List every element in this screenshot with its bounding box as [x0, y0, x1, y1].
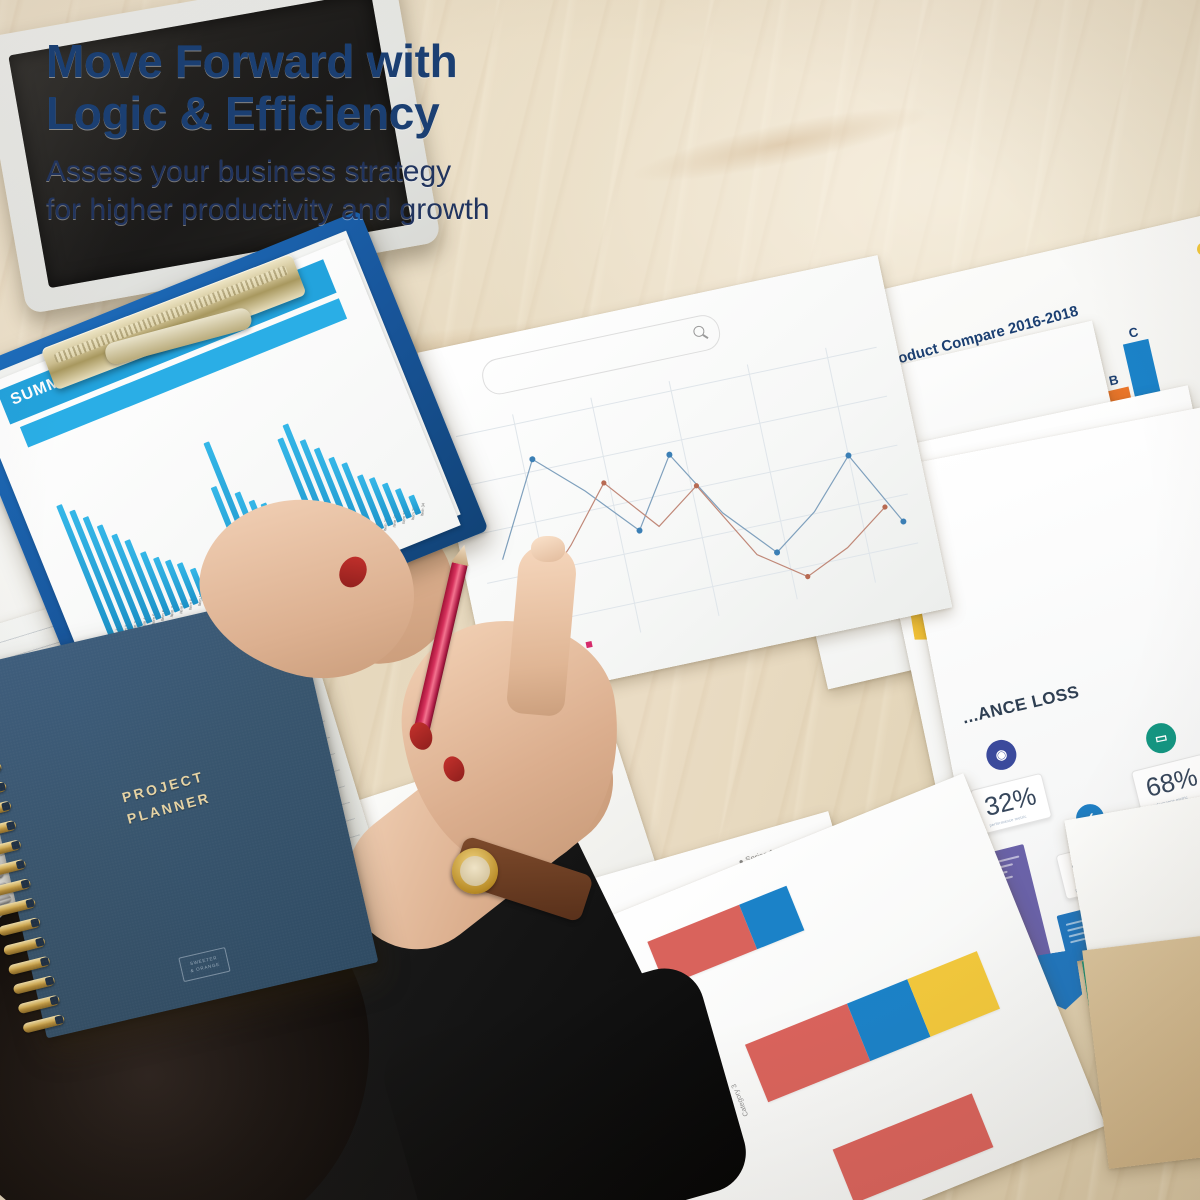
- stack-row-partial: [833, 1093, 994, 1200]
- magnifier-icon: ◉: [984, 737, 1019, 772]
- chat-icon: ▭: [1144, 721, 1179, 756]
- spiral-coil: [0, 781, 7, 801]
- spiral-coil: [0, 762, 2, 782]
- subtitle-line-2: for higher productivity and growth: [46, 193, 490, 226]
- page-title: Move Forward with Logic & Efficiency: [46, 36, 706, 139]
- segment-series-1: [745, 1004, 870, 1103]
- spiral-coil: [0, 859, 27, 879]
- kraft-paper-right: [1082, 931, 1200, 1169]
- spiral-coil: [0, 839, 22, 859]
- spiral-coil: [0, 917, 41, 937]
- spiral-coil: [0, 878, 31, 898]
- bar-label-b: B: [1107, 372, 1120, 389]
- planner-cover-title: PROJECT PLANNER: [119, 765, 214, 830]
- summary-bar-label: Item 34: [419, 503, 425, 517]
- legend-item: Product A: [1196, 229, 1200, 257]
- product-compare-legend: Product A Product B Product C: [1196, 229, 1200, 308]
- title-line-2: Logic & Efficiency: [46, 87, 439, 139]
- spiral-coil: [0, 820, 17, 840]
- segment-series-1: [833, 1093, 994, 1200]
- spiral-coil: [17, 994, 60, 1014]
- spiral-coil: [3, 936, 46, 956]
- fingernail-natural: [531, 536, 565, 562]
- spiral-coil: [0, 897, 36, 917]
- page-subtitle: Assess your business strategy for higher…: [46, 153, 706, 228]
- bar-label-c: C: [1127, 324, 1140, 341]
- spiral-coil: [22, 1014, 65, 1034]
- stack-row-category-3: [745, 951, 1000, 1102]
- legend-swatch-a: [1196, 241, 1200, 257]
- spiral-coil: [8, 956, 51, 976]
- scene-canvas: Product Compare 2016-2018 Product A Prod…: [0, 0, 1200, 1200]
- headline-block: Move Forward with Logic & Efficiency Ass…: [46, 36, 706, 228]
- planner-brand-logo: SWEETER & ORANGE: [178, 947, 231, 982]
- infographic-title: ...ANCE LOSS: [961, 682, 1082, 728]
- spiral-coil: [12, 975, 55, 995]
- subtitle-line-1: Assess your business strategy: [46, 155, 451, 188]
- title-line-1: Move Forward with: [46, 35, 457, 87]
- spiral-coil: [0, 800, 12, 820]
